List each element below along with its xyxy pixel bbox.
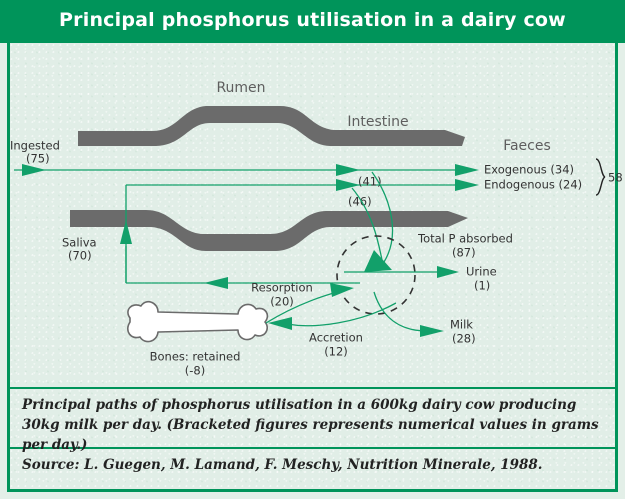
figure-source: Source: L. Guegen, M. Lamand, F. Meschy,…: [22, 455, 602, 475]
label-total-absorbed: Total P absorbed: [417, 232, 513, 246]
value-bones: (-8): [185, 364, 205, 378]
flow-milk: [374, 292, 444, 337]
value-resorption: (20): [270, 295, 294, 309]
value-accretion: (12): [324, 345, 348, 359]
label-absorbed-46: (46): [348, 195, 372, 209]
value-saliva: (70): [68, 249, 92, 263]
flow-ingested: [14, 164, 479, 176]
value-milk: (28): [452, 332, 476, 346]
figure-root: Principal phosphorus utilisation in a da…: [0, 0, 625, 499]
label-urine: Urine: [466, 265, 497, 279]
label-exogenous: Exogenous (34): [484, 163, 574, 177]
label-accretion: Accretion: [309, 331, 363, 345]
label-endogenous: Endogenous (24): [484, 178, 582, 192]
flow-urine: [344, 266, 459, 278]
value-total-absorbed: (87): [452, 246, 476, 260]
label-bones: Bones: retained: [150, 350, 241, 364]
caption-divider-top: [10, 387, 615, 389]
faeces-brace: [596, 159, 605, 195]
organ-label-faeces: Faeces: [503, 138, 551, 154]
value-ingested: (75): [26, 152, 50, 166]
value-urine: (1): [474, 279, 490, 293]
label-ingested: Ingested: [10, 139, 60, 153]
organ-label-intestine: Intestine: [347, 114, 408, 130]
label-faeces-total: 58: [608, 171, 623, 185]
total-p-pool: [337, 236, 415, 314]
figure-caption: Principal paths of phosphorus utilisatio…: [22, 395, 602, 455]
organ-label-rumen: Rumen: [216, 80, 265, 96]
label-milk: Milk: [450, 318, 473, 332]
flow-saliva: [120, 220, 360, 289]
bone-graphic: [128, 302, 268, 342]
label-saliva: Saliva: [62, 236, 97, 250]
lower-digestive-tract: [70, 210, 468, 251]
label-resorption: Resorption: [251, 281, 313, 295]
